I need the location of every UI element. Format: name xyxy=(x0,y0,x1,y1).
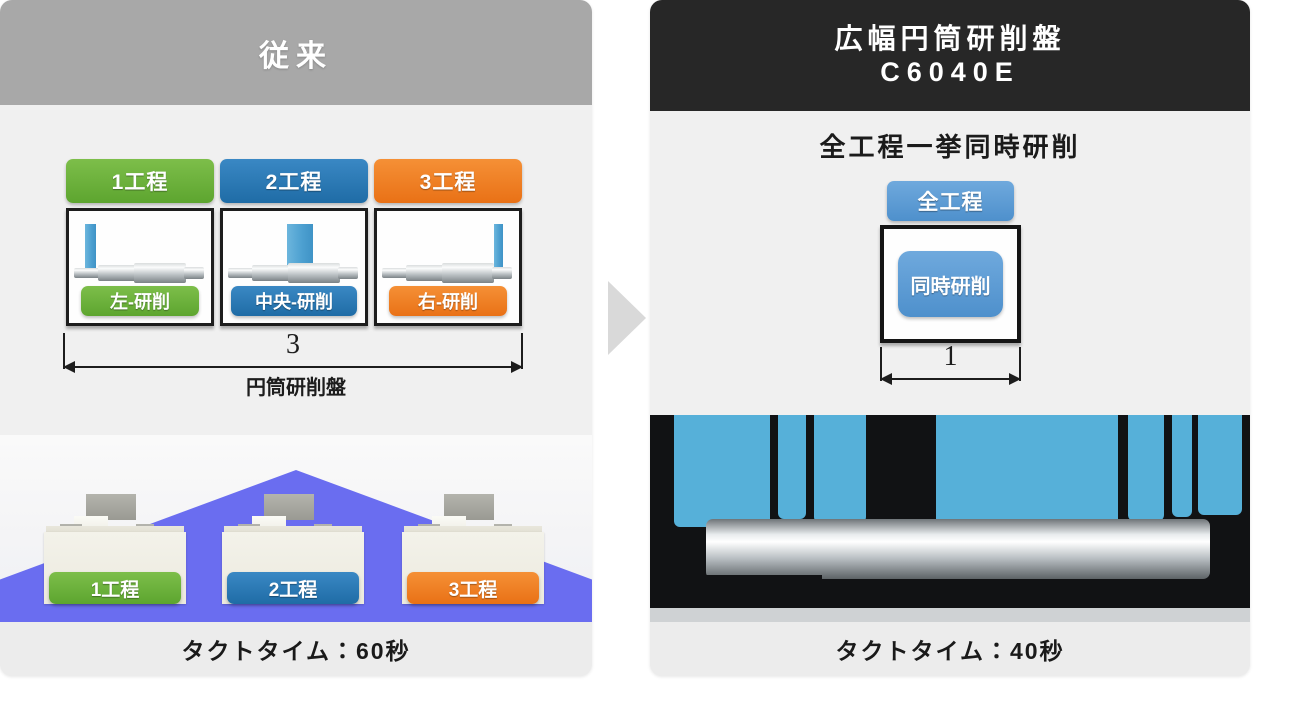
flow-arrow-icon xyxy=(608,281,646,355)
grinding-wheel-photo xyxy=(1128,415,1164,521)
grind-label-right: 右-研削 xyxy=(389,286,507,316)
conventional-machines-illustration: 1工程 2工程 3工程 xyxy=(0,435,592,622)
grinding-wheel-photo xyxy=(814,415,866,523)
process-badge-3: 3工程 xyxy=(374,159,522,203)
dimension-caption: 円筒研削盤 xyxy=(0,371,592,400)
grinding-wheel-photo xyxy=(1172,415,1192,517)
simultaneous-grinding-badge: 同時研削 xyxy=(898,251,1003,317)
workpiece-shaft-photo xyxy=(706,519,1210,579)
conventional-panel-header: 従来 xyxy=(0,0,592,105)
grinding-wheel-photo xyxy=(936,415,1118,527)
conventional-takt-time-caption: タクトタイム：60秒 xyxy=(0,622,592,676)
process-badge-1: 1工程 xyxy=(66,159,214,203)
grinding-wheel-photo xyxy=(1198,415,1242,515)
c6040e-subtitle: 全工程一挙同時研削 xyxy=(650,127,1250,164)
grind-label-left: 左-研削 xyxy=(81,286,199,316)
workpiece-box-left: 左-研削 xyxy=(66,208,214,326)
machine-badge-2: 2工程 xyxy=(227,572,359,604)
machine-badge-1: 1工程 xyxy=(49,572,181,604)
grind-label-center: 中央-研削 xyxy=(231,286,357,316)
grinding-wheel-icon xyxy=(287,224,313,268)
conventional-panel: 従来 1工程 2工程 3工程 左-研削 xyxy=(0,0,592,676)
c6040e-takt-time-caption: タクトタイム：40秒 xyxy=(650,622,1250,676)
machine-badge-3: 3工程 xyxy=(407,572,539,604)
c6040e-panel: 広幅円筒研削盤 C6040E 全工程一挙同時研削 全工程 同時研削 1 xyxy=(650,0,1250,676)
dimension-line-conventional: 3 xyxy=(63,333,523,373)
workpiece-box-center: 中央-研削 xyxy=(220,208,368,326)
grinding-wheel-icon xyxy=(494,224,503,268)
workpiece-shaft-icon xyxy=(74,263,207,283)
grinding-wheel-photo xyxy=(674,415,770,527)
all-process-badge: 全工程 xyxy=(887,181,1014,221)
dimension-line-c6040e: 1 xyxy=(880,347,1021,385)
grinding-wheel-photo xyxy=(778,415,806,519)
grinding-wheel-icon xyxy=(85,224,96,268)
c6040e-machine-photo xyxy=(650,415,1250,622)
workpiece-shaft-icon xyxy=(228,263,361,283)
comparison-figure: 従来 1工程 2工程 3工程 左-研削 xyxy=(0,0,1295,719)
simultaneous-grinding-box: 同時研削 xyxy=(880,225,1021,343)
c6040e-model-name: C6040E xyxy=(880,56,1020,89)
dimension-value: 1 xyxy=(880,341,1021,373)
process-badge-2: 2工程 xyxy=(220,159,368,203)
workpiece-box-right: 右-研削 xyxy=(374,208,522,326)
dimension-value: 3 xyxy=(63,329,523,361)
c6040e-panel-header: 広幅円筒研削盤 C6040E xyxy=(650,0,1250,111)
workpiece-shaft-icon xyxy=(382,263,515,283)
c6040e-panel-title: 広幅円筒研削盤 xyxy=(834,22,1065,56)
conventional-panel-title: 従来 xyxy=(259,31,333,75)
